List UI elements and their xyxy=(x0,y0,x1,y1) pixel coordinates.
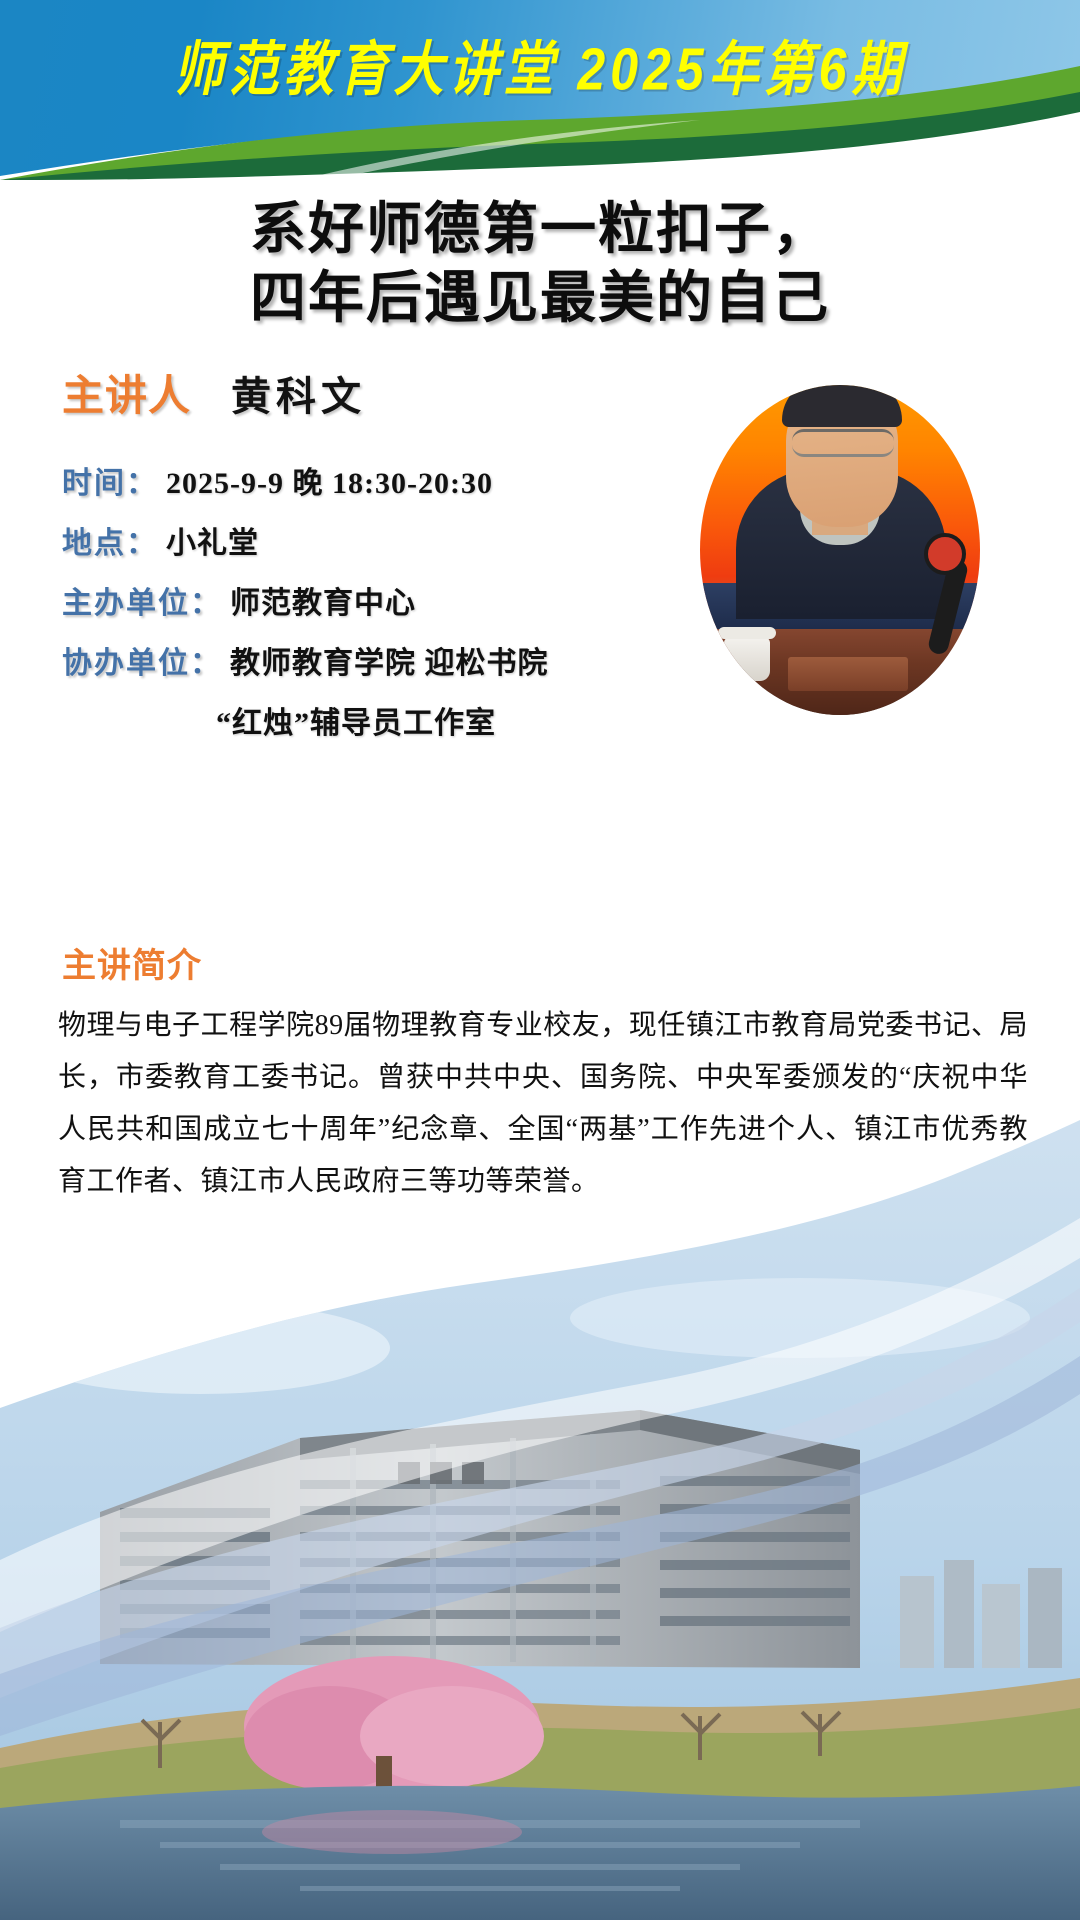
nameplate xyxy=(788,657,908,691)
detail-value-coorganizer: 教师教育学院 迎松书院 xyxy=(230,638,549,682)
detail-label-time: 时间： xyxy=(62,458,158,502)
bottom-artwork xyxy=(0,1108,1080,1920)
portrait-hair xyxy=(782,385,902,427)
speaker-label: 主讲人 xyxy=(62,362,191,423)
speaker-portrait xyxy=(700,385,980,715)
header-banner: 师范教育大讲堂 2025年第6期 xyxy=(0,0,1080,180)
detail-row-coorganizer: 协办单位： 教师教育学院 迎松书院 xyxy=(62,638,582,682)
detail-value-time: 2025-9-9 晚 18:30-20:30 xyxy=(166,458,493,502)
page-title-line-2: 四年后遇见最美的自己 xyxy=(0,265,1080,334)
banner-title: 师范教育大讲堂 2025年第6期 xyxy=(0,22,1080,107)
detail-row-coorganizer-extra: “红烛”辅导员工作室 xyxy=(208,698,582,742)
page-title: 系好师德第一粒扣子， 四年后遇见最美的自己 xyxy=(0,196,1080,334)
detail-row-time: 时间： 2025-9-9 晚 18:30-20:30 xyxy=(62,458,582,502)
detail-row-location: 地点： 小礼堂 xyxy=(62,518,582,562)
event-details: 时间： 2025-9-9 晚 18:30-20:30 地点： 小礼堂 主办单位：… xyxy=(62,458,582,758)
glasses-icon xyxy=(792,429,894,457)
speaker-name: 黄科文 xyxy=(231,364,366,422)
speaker-row: 主讲人 黄科文 xyxy=(62,362,366,423)
poster-root: 师范教育大讲堂 2025年第6期 系好师德第一粒扣子， 四年后遇见最美的自己 主… xyxy=(0,0,1080,1920)
bio-heading: 主讲简介 xyxy=(62,938,202,987)
bottom-wave-and-photo xyxy=(0,1108,1080,1920)
teacup-icon xyxy=(724,637,770,681)
detail-label-coorganizer: 协办单位： xyxy=(62,638,222,682)
detail-value-coorganizer-extra: “红烛”辅导员工作室 xyxy=(216,698,496,742)
detail-value-location: 小礼堂 xyxy=(166,518,259,562)
detail-label-location: 地点： xyxy=(62,518,158,562)
detail-label-organizer: 主办单位： xyxy=(62,578,222,622)
detail-row-organizer: 主办单位： 师范教育中心 xyxy=(62,578,582,622)
page-title-line-1: 系好师德第一粒扣子， xyxy=(0,196,1080,265)
microphone-head-icon xyxy=(924,533,966,575)
teacup-lid-icon xyxy=(718,627,776,639)
detail-value-organizer: 师范教育中心 xyxy=(230,578,416,622)
